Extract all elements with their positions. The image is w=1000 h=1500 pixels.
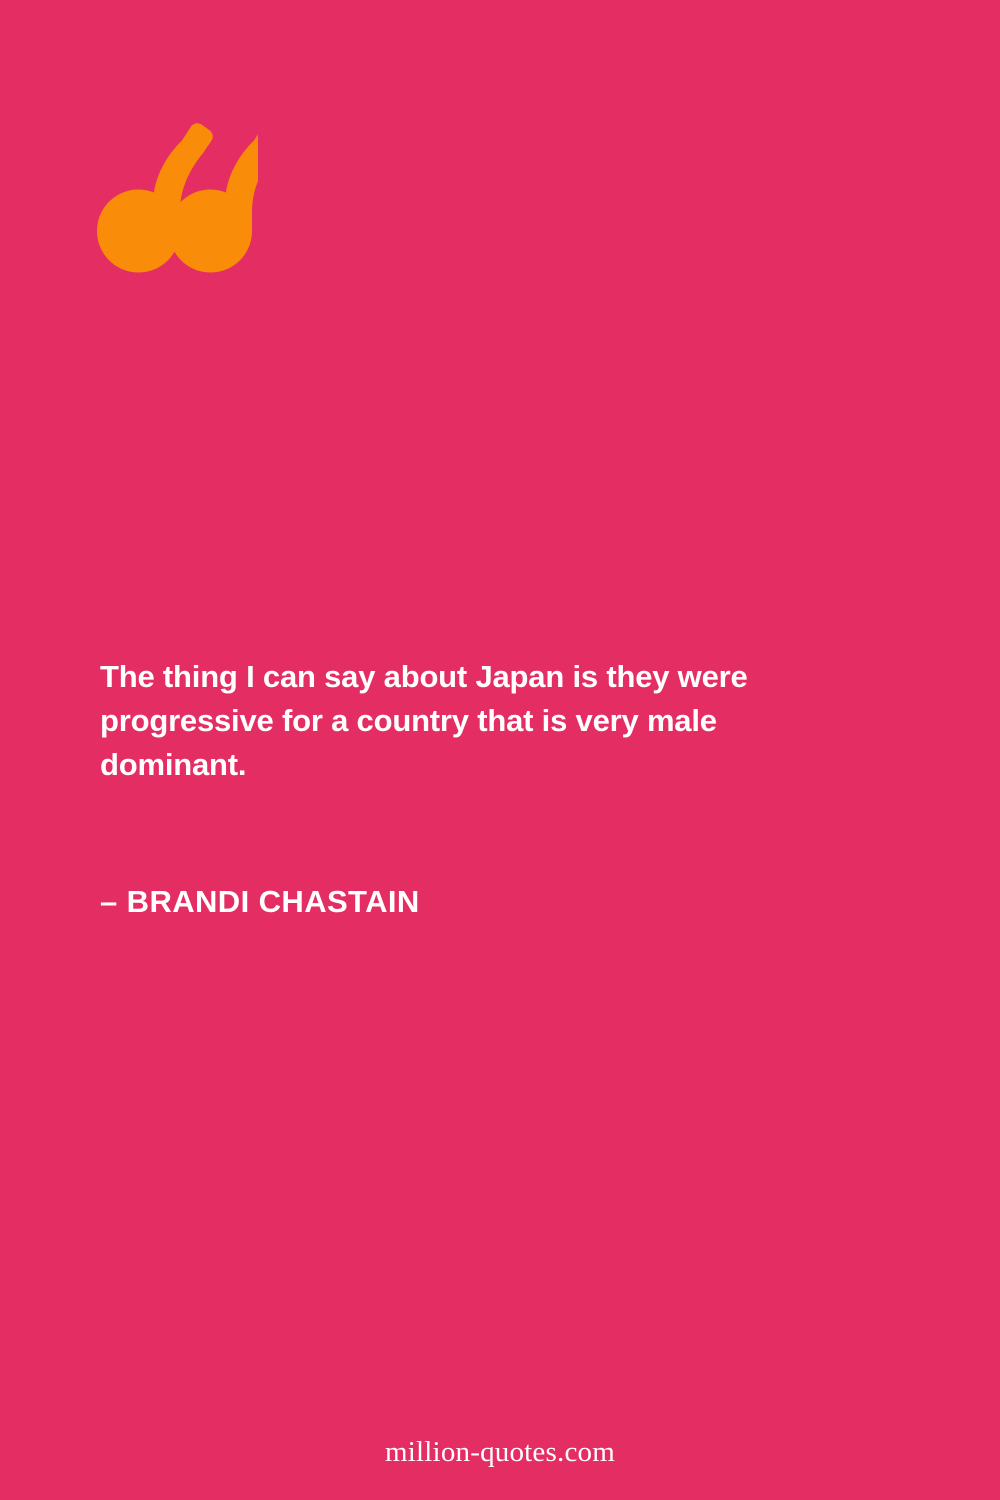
- double-quote-icon: [93, 122, 258, 277]
- site-watermark: million-quotes.com: [0, 1436, 1000, 1469]
- quote-author: – BRANDI CHASTAIN: [100, 884, 420, 920]
- quote-card: The thing I can say about Japan is they …: [0, 0, 1000, 1500]
- quote-text: The thing I can say about Japan is they …: [100, 655, 790, 787]
